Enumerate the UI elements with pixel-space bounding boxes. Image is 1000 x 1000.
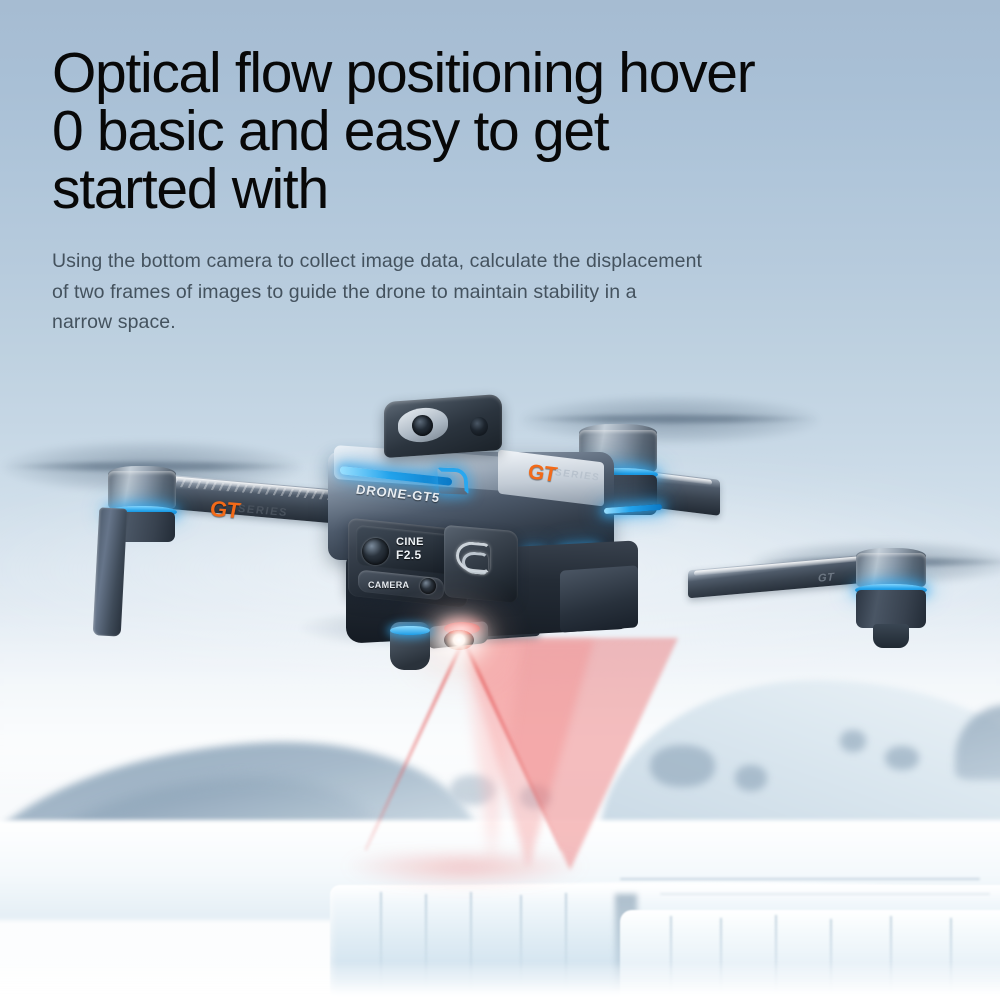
gimbal-main-lens — [362, 538, 389, 565]
motor-nozzle — [873, 624, 909, 648]
top-camera-lens-primary — [412, 415, 433, 436]
battery-panel — [560, 565, 638, 632]
text-block: Optical flow positioning hover 0 basic a… — [52, 44, 972, 337]
page-title: Optical flow positioning hover 0 basic a… — [52, 44, 972, 218]
secondary-camera-label: CAMERA — [368, 580, 409, 590]
top-camera-lens-secondary — [470, 417, 488, 436]
secondary-camera-lens — [420, 578, 436, 594]
motor-front-right-led — [390, 626, 430, 635]
product-banner: GT SERIES GT — [0, 0, 1000, 1000]
motor-base — [856, 590, 926, 628]
description-paragraph: Using the bottom camera to collect image… — [52, 246, 972, 337]
arm-decal-small: GT — [818, 571, 834, 584]
lens-spec-aperture: F2.5 — [396, 549, 422, 562]
propeller-blade-rear-left — [524, 415, 816, 423]
fuselage-decal-gt: GT — [528, 460, 556, 487]
landing-leg-front-left — [93, 507, 128, 636]
motor-rear-right — [852, 552, 930, 644]
motor-housing — [856, 553, 926, 587]
arm-decal-gt: GT — [210, 496, 239, 525]
motor-housing — [108, 471, 176, 509]
optical-flow-led — [444, 630, 474, 650]
led-accent-hook — [437, 467, 469, 494]
lens-spec-cine: CINE — [396, 537, 424, 549]
